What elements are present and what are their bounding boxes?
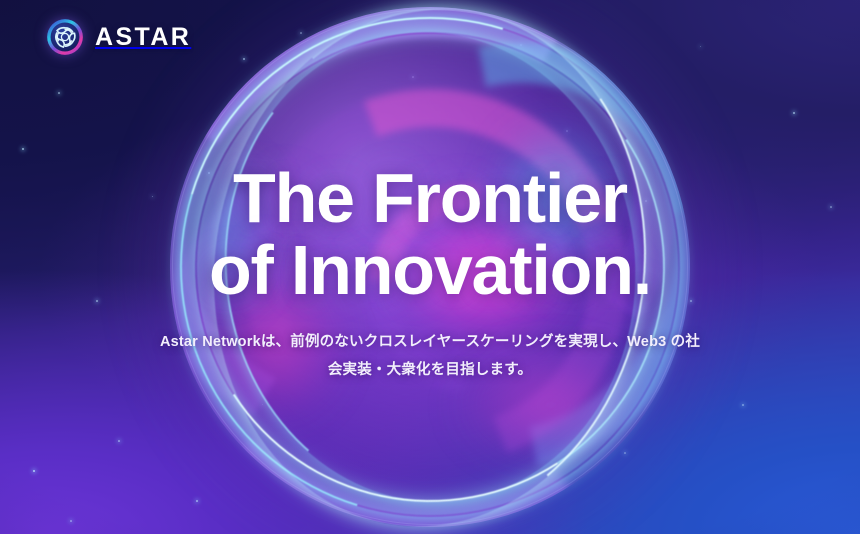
page-title: The Frontier of Innovation. (40, 162, 820, 306)
hero-subcopy: Astar Networkは、前例のないクロスレイヤースケーリングを実現し、We… (158, 328, 703, 385)
astar-hero-banner: ASTAR The Frontier of Innovation. Astar … (0, 0, 860, 534)
star-particle (58, 92, 60, 94)
headline-line-1: The Frontier (233, 159, 627, 237)
star-particle (33, 470, 35, 472)
brand-logo[interactable]: ASTAR (46, 18, 191, 56)
star-particle (70, 520, 72, 522)
star-particle (22, 148, 24, 150)
brand-wordmark: ASTAR (95, 25, 191, 50)
astar-triskelion-icon (46, 18, 84, 56)
headline-line-2: of Innovation. (40, 234, 820, 306)
subcopy-line-1: Astar Networkは、前例のないクロスレイヤースケーリングを実現し、We… (160, 334, 666, 350)
hero-content: The Frontier of Innovation. Astar Networ… (0, 162, 860, 385)
star-particle (793, 112, 795, 114)
star-particle (118, 440, 120, 442)
star-particle (742, 404, 744, 406)
